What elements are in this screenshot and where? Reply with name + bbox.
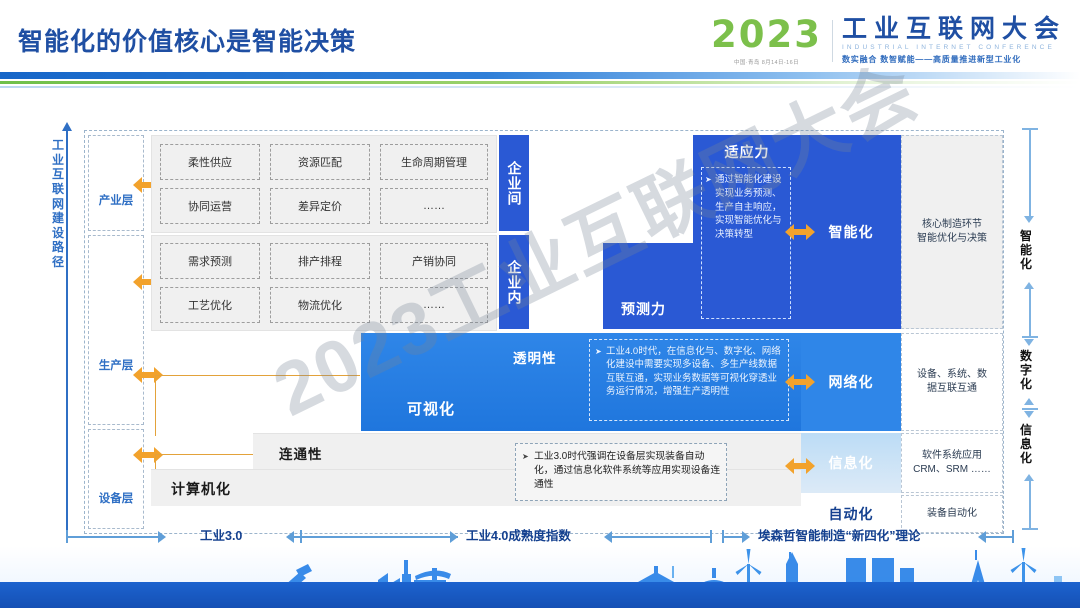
enterprise-box-intra-label: 企业内 — [505, 260, 524, 305]
header-divider-blue — [0, 72, 1080, 79]
tile-production-3: 产销协同 — [380, 243, 488, 279]
tile-production-5: 物流优化 — [270, 287, 370, 323]
adaptive-label: 适应力 — [693, 142, 801, 162]
logo-title-en: INDUSTRIAL INTERNET CONFERENCE — [842, 44, 1066, 51]
right-axis-cap-mid-1 — [1022, 336, 1038, 338]
layer-cell-equipment: 设备层 — [88, 429, 144, 529]
left-axis-label: 工业互联网建设路径 — [49, 138, 67, 270]
right-axis-arrow-down-3 — [1024, 411, 1034, 418]
footer-skyline — [0, 546, 1080, 608]
right-axis-arrow-up-2 — [1024, 398, 1034, 405]
maturity-column: 智能化 核心制造环节 智能优化与决策 网络化 设备、系统、数 据互联互通 信息化… — [801, 131, 1003, 533]
bottom-arrow-right-4 — [742, 531, 750, 543]
maturity-diagram: 工业互联网建设路径 产业层 生产层 设备层 柔性供应 资源匹配 生命周期管理 协… — [0, 100, 1080, 560]
bottom-arrow-left-3 — [604, 531, 612, 543]
bottom-cap-2 — [300, 530, 302, 543]
layer-cell-production: 生产层 — [88, 235, 144, 425]
maturity-arrow-automated — [785, 458, 815, 474]
right-axis-label-informatized: 信息化 — [1015, 424, 1037, 465]
visibility-block: 透明性 可视化 ➤ 工业4.0时代，在信息化与、数字化、网络化建设中需要实现多设… — [361, 333, 801, 431]
footer-water — [0, 582, 1080, 608]
maturity-stage-intelligent: 智能化 — [801, 135, 901, 329]
bottom-cap-3 — [710, 530, 712, 543]
logo-title-cn: 工业互联网大会 — [842, 16, 1066, 42]
page-title: 智能化的价值核心是智能决策 — [18, 22, 356, 58]
logo-text-block: 工业互联网大会 INDUSTRIAL INTERNET CONFERENCE 数… — [842, 16, 1066, 65]
adaptive-note-text: 通过智能化建设实现业务预测、生产自主响应，实现智能优化与决策转型 — [715, 174, 782, 240]
bullet-arrow-icon: ➤ — [705, 174, 712, 186]
predictive-label: 预测力 — [621, 299, 666, 319]
bullet-arrow-icon: ➤ — [522, 451, 529, 463]
tile-industry-3: 生命周期管理 — [380, 144, 488, 180]
right-axis-arrow-down-2 — [1024, 339, 1034, 346]
logo-date: 中国·青岛 8月14日-16日 — [734, 58, 799, 66]
tile-production-2: 排产排程 — [270, 243, 370, 279]
tile-industry-2: 资源匹配 — [270, 144, 370, 180]
connector-visibility — [155, 375, 360, 436]
logo-year: 2023 — [711, 16, 822, 53]
enterprise-box-intra: 企业内 — [499, 235, 529, 329]
maturity-stage-networked: 网络化 — [801, 333, 901, 431]
connectivity-note: ➤ 工业3.0时代强调在设备层实现装备自动化，通过信息化软件系统等应用实现设备连… — [515, 443, 727, 501]
industry-tile-panel: 柔性供应 资源匹配 生命周期管理 协同运营 差异定价 …… — [151, 135, 497, 233]
connectivity-note-text: 工业3.0时代强调在设备层实现装备自动化，通过信息化软件系统等应用实现设备连通性 — [534, 451, 720, 490]
conference-logo: 2023 中国·青岛 8月14日-16日 工业互联网大会 INDUSTRIAL … — [711, 16, 1066, 66]
bottom-label-industry30: 工业3.0 — [200, 525, 242, 544]
tile-production-1: 需求预测 — [160, 243, 260, 279]
right-axis-label-digital: 数字化 — [1015, 350, 1037, 391]
visibility-note-text: 工业4.0时代，在信息化与、数字化、网络化建设中需要实现多设备、多生产线数据互联… — [606, 346, 781, 397]
bottom-seg-5 — [986, 536, 1014, 538]
enterprise-box-inter-label: 企业间 — [505, 161, 524, 206]
bottom-seg-2 — [294, 536, 458, 538]
connectivity-label: 连通性 — [279, 443, 323, 463]
tile-production-6: …… — [380, 287, 488, 323]
header-divider-thin — [0, 86, 1080, 88]
tile-production-4: 工艺优化 — [160, 287, 260, 323]
tile-industry-1: 柔性供应 — [160, 144, 260, 180]
maturity-desc-informatized: 软件系统应用 CRM、SRM …… — [901, 433, 1003, 493]
right-axis-line-3 — [1029, 480, 1031, 528]
bottom-label-industry40: 工业4.0成熟度指数 — [466, 525, 571, 544]
right-axis: 智能化 数字化 信息化 — [1018, 128, 1042, 532]
right-axis-arrow-down-1 — [1024, 216, 1034, 223]
bullet-arrow-icon: ➤ — [595, 346, 602, 357]
bottom-cap-5 — [1012, 530, 1014, 543]
logo-subtitle: 数实融合 数智赋能——高质量推进新型工业化 — [842, 54, 1066, 65]
visualization-label: 可视化 — [407, 398, 455, 419]
bottom-arrow-right-1 — [158, 531, 166, 543]
logo-year-block: 2023 中国·青岛 8月14日-16日 — [711, 16, 832, 66]
computerization-label: 计算机化 — [171, 479, 231, 499]
matrix-frame: 产业层 生产层 设备层 柔性供应 资源匹配 生命周期管理 协同运营 差异定价 …… — [84, 130, 1004, 534]
visibility-note: ➤ 工业4.0时代，在信息化与、数字化、网络化建设中需要实现多设备、多生产线数据… — [589, 339, 789, 421]
production-tile-panel: 需求预测 排产排程 产销协同 工艺优化 物流优化 …… — [151, 235, 497, 331]
bottom-seg-1 — [66, 536, 162, 538]
bottom-arrow-right-2 — [450, 531, 458, 543]
right-axis-line-2 — [1029, 288, 1031, 338]
bottom-arrow-left-2 — [286, 531, 294, 543]
maturity-arrow-networked — [785, 374, 815, 390]
bottom-arrow-left-5 — [978, 531, 986, 543]
maturity-desc-networked: 设备、系统、数 据互联互通 — [901, 333, 1003, 431]
header-divider-green — [0, 81, 1080, 84]
maturity-stage-informatized: 信息化 — [801, 433, 901, 493]
maturity-arrow-intelligent — [785, 224, 815, 240]
tile-industry-6: …… — [380, 188, 488, 224]
tile-industry-4: 协同运营 — [160, 188, 260, 224]
maturity-desc-intelligent: 核心制造环节 智能优化与决策 — [901, 135, 1003, 329]
bottom-seg-3 — [612, 536, 712, 538]
bottom-label-accenture: 埃森哲智能制造“新四化”理论 — [758, 525, 921, 544]
logo-divider — [832, 20, 833, 62]
right-axis-cap-mid-2 — [1022, 408, 1038, 410]
tile-industry-5: 差异定价 — [270, 188, 370, 224]
enterprise-box-inter: 企业间 — [499, 135, 529, 231]
right-axis-line-1 — [1029, 130, 1031, 218]
right-axis-label-intelligent: 智能化 — [1015, 230, 1037, 271]
transparency-label: 透明性 — [513, 347, 557, 367]
adaptive-note: ➤ 通过智能化建设实现业务预测、生产自主响应，实现智能优化与决策转型 — [701, 167, 791, 319]
